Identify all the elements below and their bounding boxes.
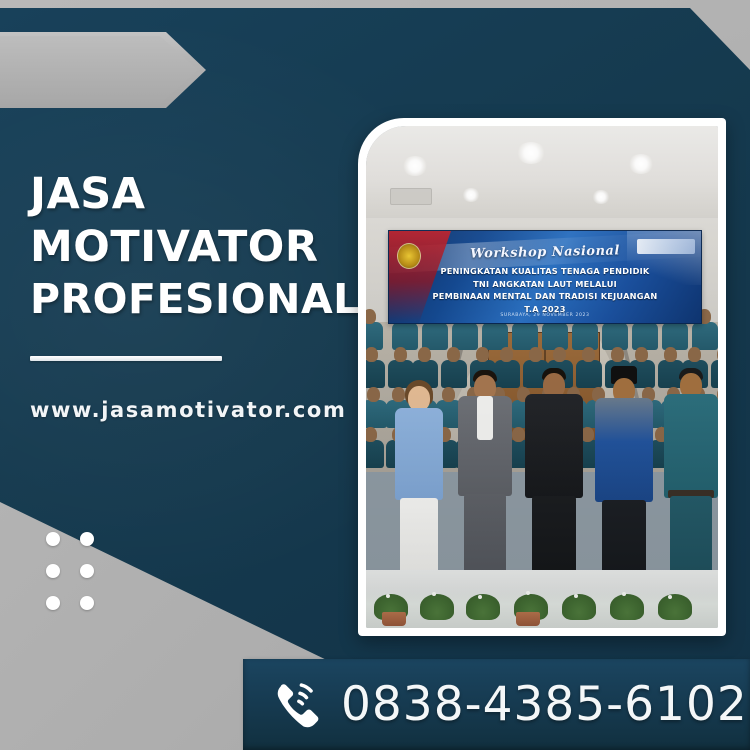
audience-head (553, 347, 566, 362)
flower-pot (516, 612, 540, 626)
ac-vent (390, 188, 432, 205)
banner-line: PENINGKATAN KUALITAS TENAGA PENDIDIK (389, 265, 701, 278)
ceiling-light (516, 142, 546, 164)
headline-line-2: MOTIVATOR (30, 221, 380, 274)
website-url[interactable]: www.jasamotivator.com (30, 398, 346, 422)
audience-head (476, 347, 489, 362)
torso (664, 394, 718, 498)
shrub (466, 594, 500, 620)
arrow-ribbon-inner (0, 36, 198, 104)
audience-head (635, 347, 648, 362)
banner-body-text: PENINGKATAN KUALITAS TENAGA PENDIDIK TNI… (389, 265, 701, 316)
dot (80, 596, 94, 610)
dot (46, 596, 60, 610)
bloom (622, 592, 626, 596)
contact-bar[interactable]: 0838-4385-6102 (243, 659, 750, 750)
event-photo: Workshop Nasional PENINGKATAN KUALITAS T… (366, 126, 718, 628)
ceiling-light (592, 190, 610, 204)
page-title: JASA MOTIVATOR PROFESIONAL (30, 168, 380, 324)
audience-head (418, 347, 431, 362)
audience-head (447, 347, 460, 362)
torso (525, 394, 583, 498)
shrub (562, 594, 596, 620)
flower-pot (382, 612, 406, 626)
audience-head (529, 347, 542, 362)
phone-number[interactable]: 0838-4385-6102 (341, 677, 748, 732)
ceiling-light (628, 154, 654, 174)
audience-head (500, 347, 513, 362)
audience-head (582, 347, 595, 362)
photo-card: Workshop Nasional PENINGKATAN KUALITAS T… (358, 118, 726, 636)
planter-row (366, 588, 718, 628)
banner-subtitle: SURABAYA, 29 NOVEMBER 2023 (389, 313, 701, 318)
torso (595, 398, 653, 502)
audience-head (366, 309, 376, 324)
bloom (386, 594, 390, 598)
banner-line: TNI ANGKATAN LAUT MELALUI (389, 278, 701, 291)
bloom (574, 594, 578, 598)
audience-head (664, 347, 677, 362)
headline-line-1: JASA (30, 168, 380, 221)
shirt (477, 396, 493, 440)
shrub (610, 594, 644, 620)
dot (80, 532, 94, 546)
bloom (668, 595, 672, 599)
bloom (478, 595, 482, 599)
poster-canvas: JASA MOTIVATOR PROFESIONAL www.jasamotiv… (0, 0, 750, 750)
audience-head (394, 347, 407, 362)
shrub (658, 594, 692, 620)
audience-head (366, 347, 378, 362)
bloom (432, 592, 436, 596)
dot (80, 564, 94, 578)
ceiling-light (402, 156, 428, 176)
dot (46, 564, 60, 578)
shrub (420, 594, 454, 620)
audience-head (611, 347, 624, 362)
divider-line (30, 356, 222, 361)
ceiling-light (462, 188, 480, 202)
headline-line-3: PROFESIONAL (30, 274, 380, 324)
phone-call-icon (269, 678, 323, 732)
dot (46, 532, 60, 546)
bloom (526, 591, 530, 595)
torso (395, 408, 443, 500)
dot-grid-decoration (46, 532, 94, 610)
audience-head (688, 347, 701, 362)
stage-banner: Workshop Nasional PENINGKATAN KUALITAS T… (388, 230, 702, 324)
banner-line: PEMBINAAN MENTAL DAN TRADISI KEJUANGAN (389, 290, 701, 303)
